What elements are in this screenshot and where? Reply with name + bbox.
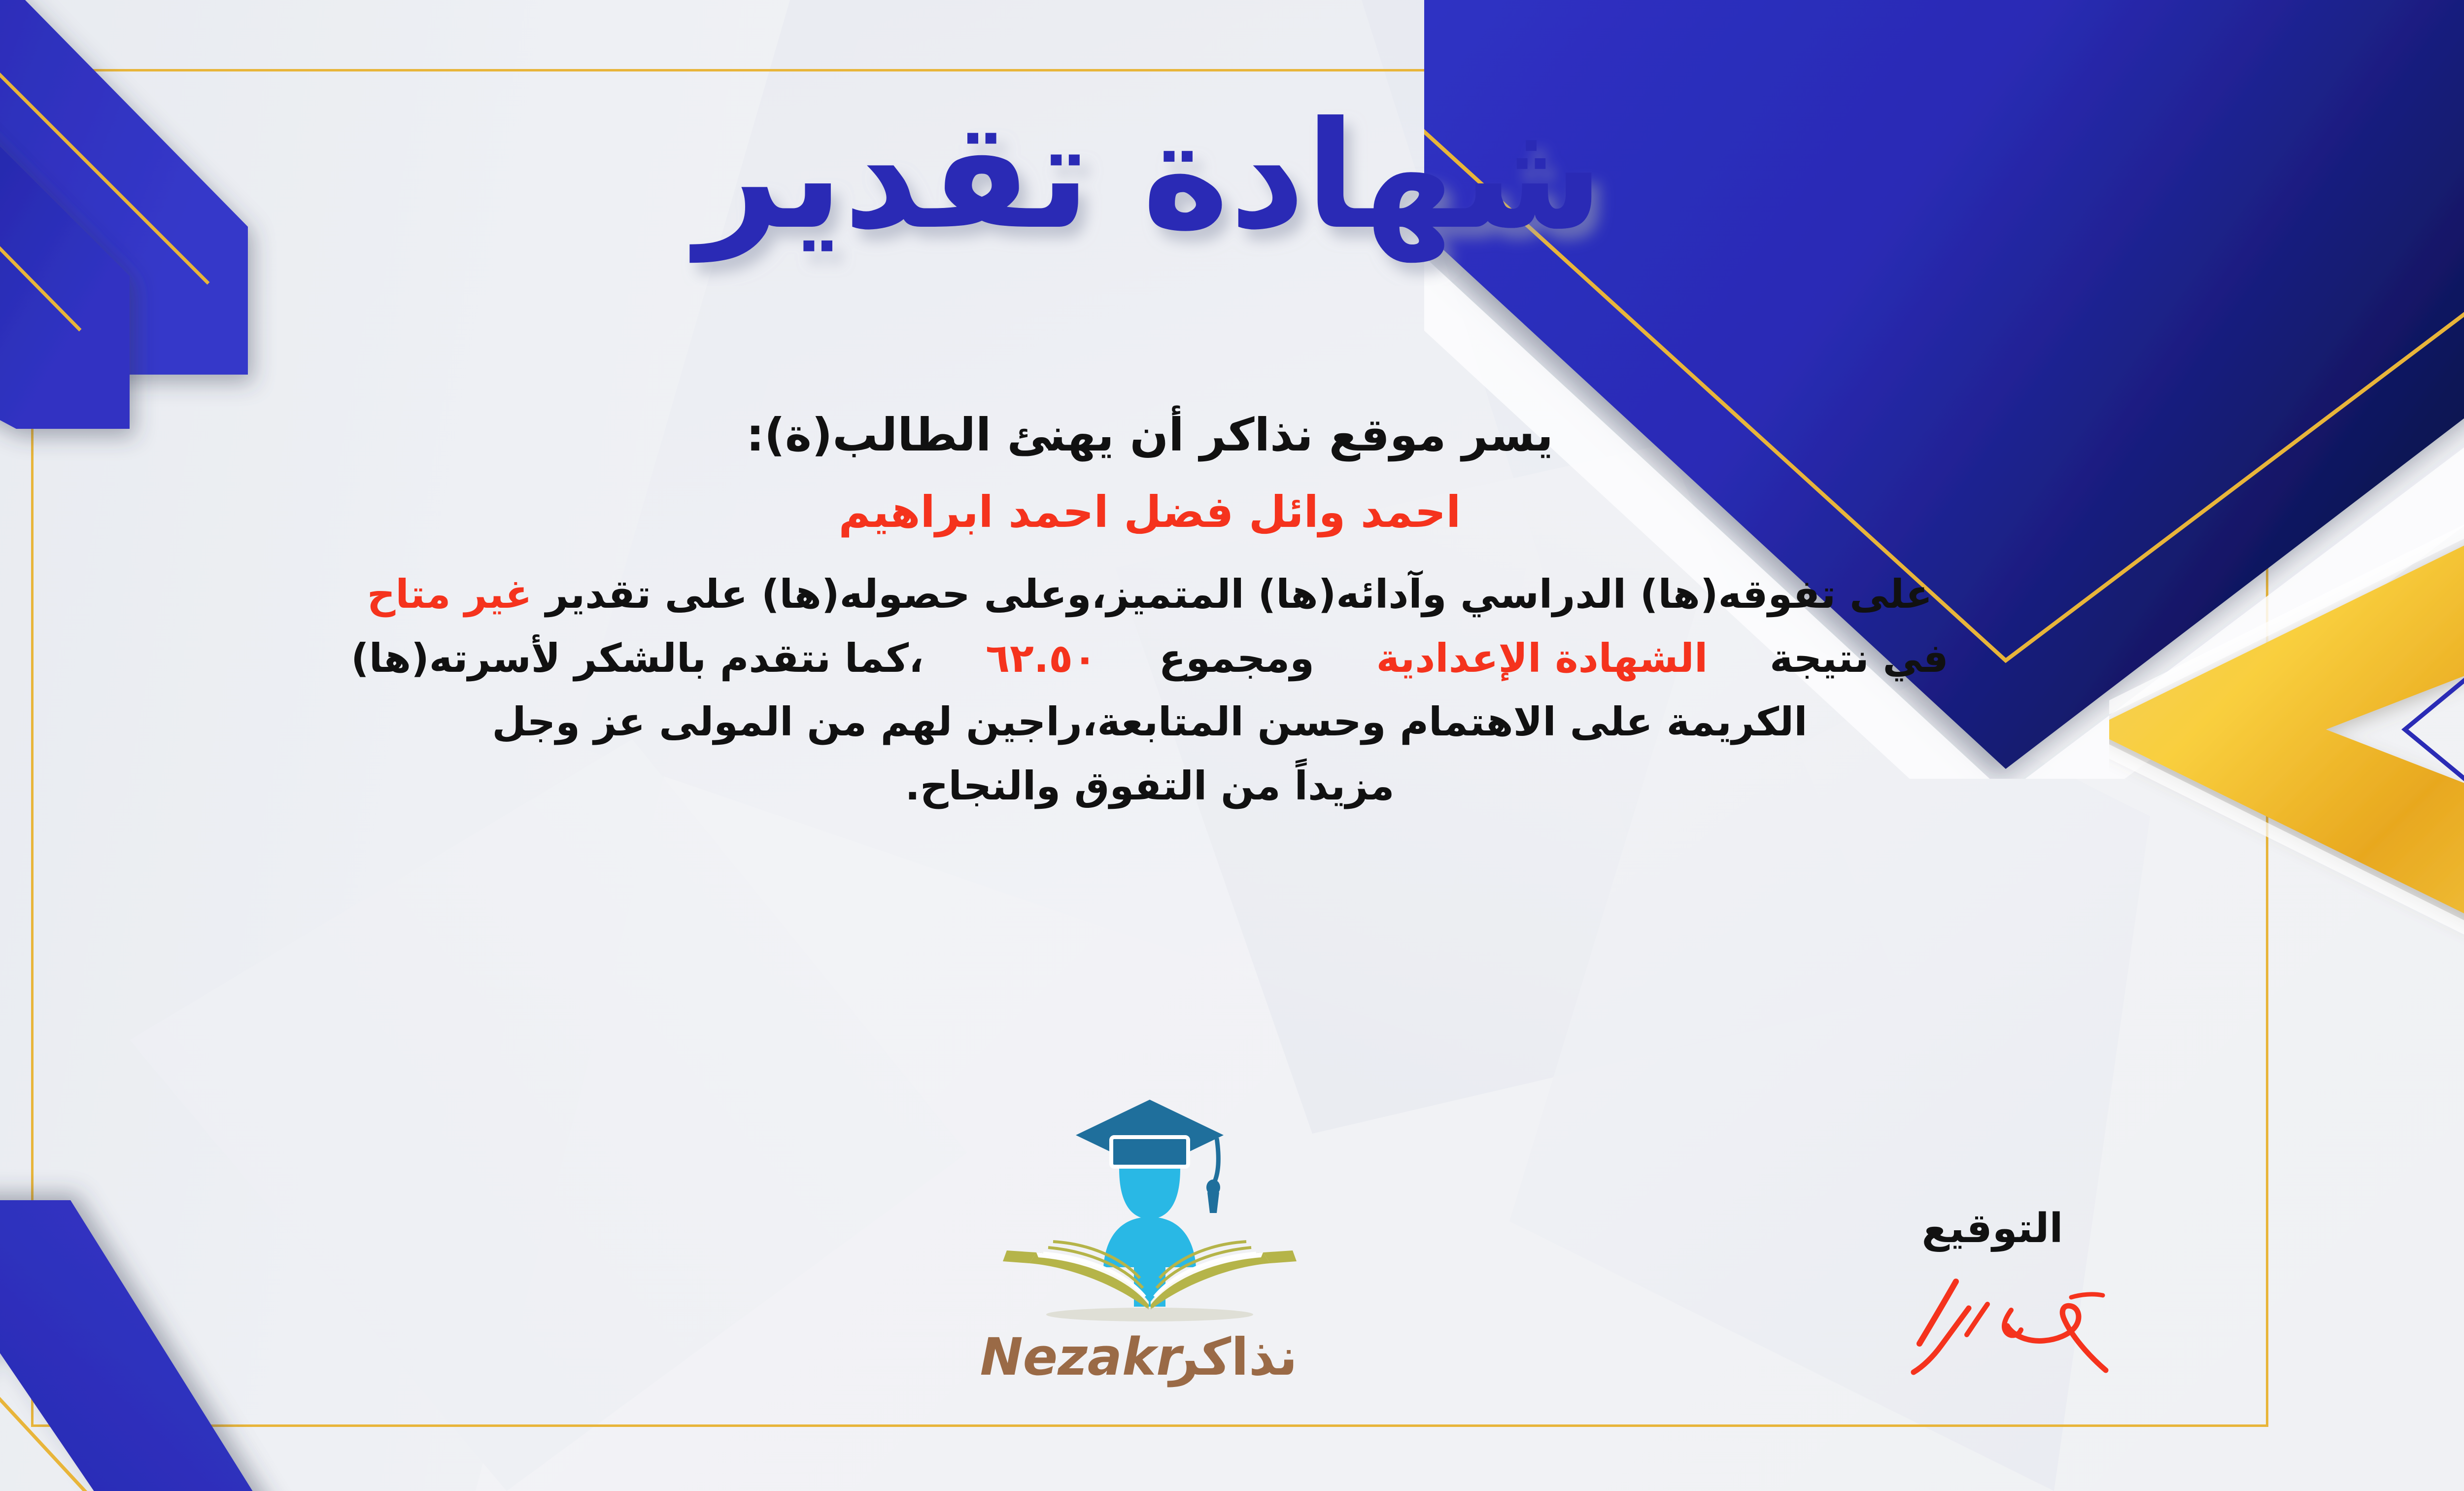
signature-block: التوقيع موقع نذاكر (1805, 1205, 2180, 1380)
certificate-title-text: شهادة تقدير (689, 90, 1604, 264)
certificate-page: شهادة تقدير يسر موقع نذاكر أن يهنئ الطال… (0, 0, 2464, 1491)
signature-label: التوقيع (1805, 1205, 2180, 1252)
achievement-part4: ،كما نتقدم بالشكر لأسرته(ها) (351, 635, 924, 681)
achievement-part6: مزيداً من التفوق والنجاح. (905, 763, 1394, 809)
nezakr-logo-icon (967, 1090, 1332, 1326)
site-logo: Nezakr نذاكر (928, 1090, 1371, 1392)
certificate-title-art: شهادة تقدير (608, 74, 1692, 286)
achievement-part3: ومجموع (1159, 635, 1314, 681)
logo-name-arabic: نذاكر (1167, 1327, 1298, 1387)
signature-mark: موقع نذاكر (1840, 1272, 2145, 1380)
achievement-paragraph: على تفوقه(ها) الدراسي وآدائه(ها) المتميز… (90, 562, 2209, 818)
achievement-part2: في نتيجة (1770, 635, 1949, 681)
greeting-line: يسر موقع نذاكر أن يهنئ الطالب(ة): (90, 409, 2209, 461)
exam-name: الشهادة الإعدادية (1376, 635, 1708, 681)
student-name: احمد وائل فضل احمد ابراهيم (90, 487, 2209, 537)
achievement-part5: الكريمة على الاهتمام وحسن المتابعة،راجين… (492, 699, 1807, 745)
total-score-value: ٦٢.٥٠ (986, 635, 1097, 681)
logo-name-latin: Nezakr (980, 1327, 1184, 1387)
certificate-content: شهادة تقدير يسر موقع نذاكر أن يهنئ الطال… (31, 69, 2268, 1427)
grade-value: غير متاح (367, 571, 532, 617)
achievement-part1: على تفوقه(ها) الدراسي وآدائه(ها) المتميز… (546, 571, 1932, 617)
logo-wordmark: Nezakr نذاكر (967, 1326, 1332, 1390)
certificate-body: يسر موقع نذاكر أن يهنئ الطالب(ة): احمد و… (90, 409, 2209, 818)
certificate-title-wrap: شهادة تقدير (31, 74, 2268, 288)
